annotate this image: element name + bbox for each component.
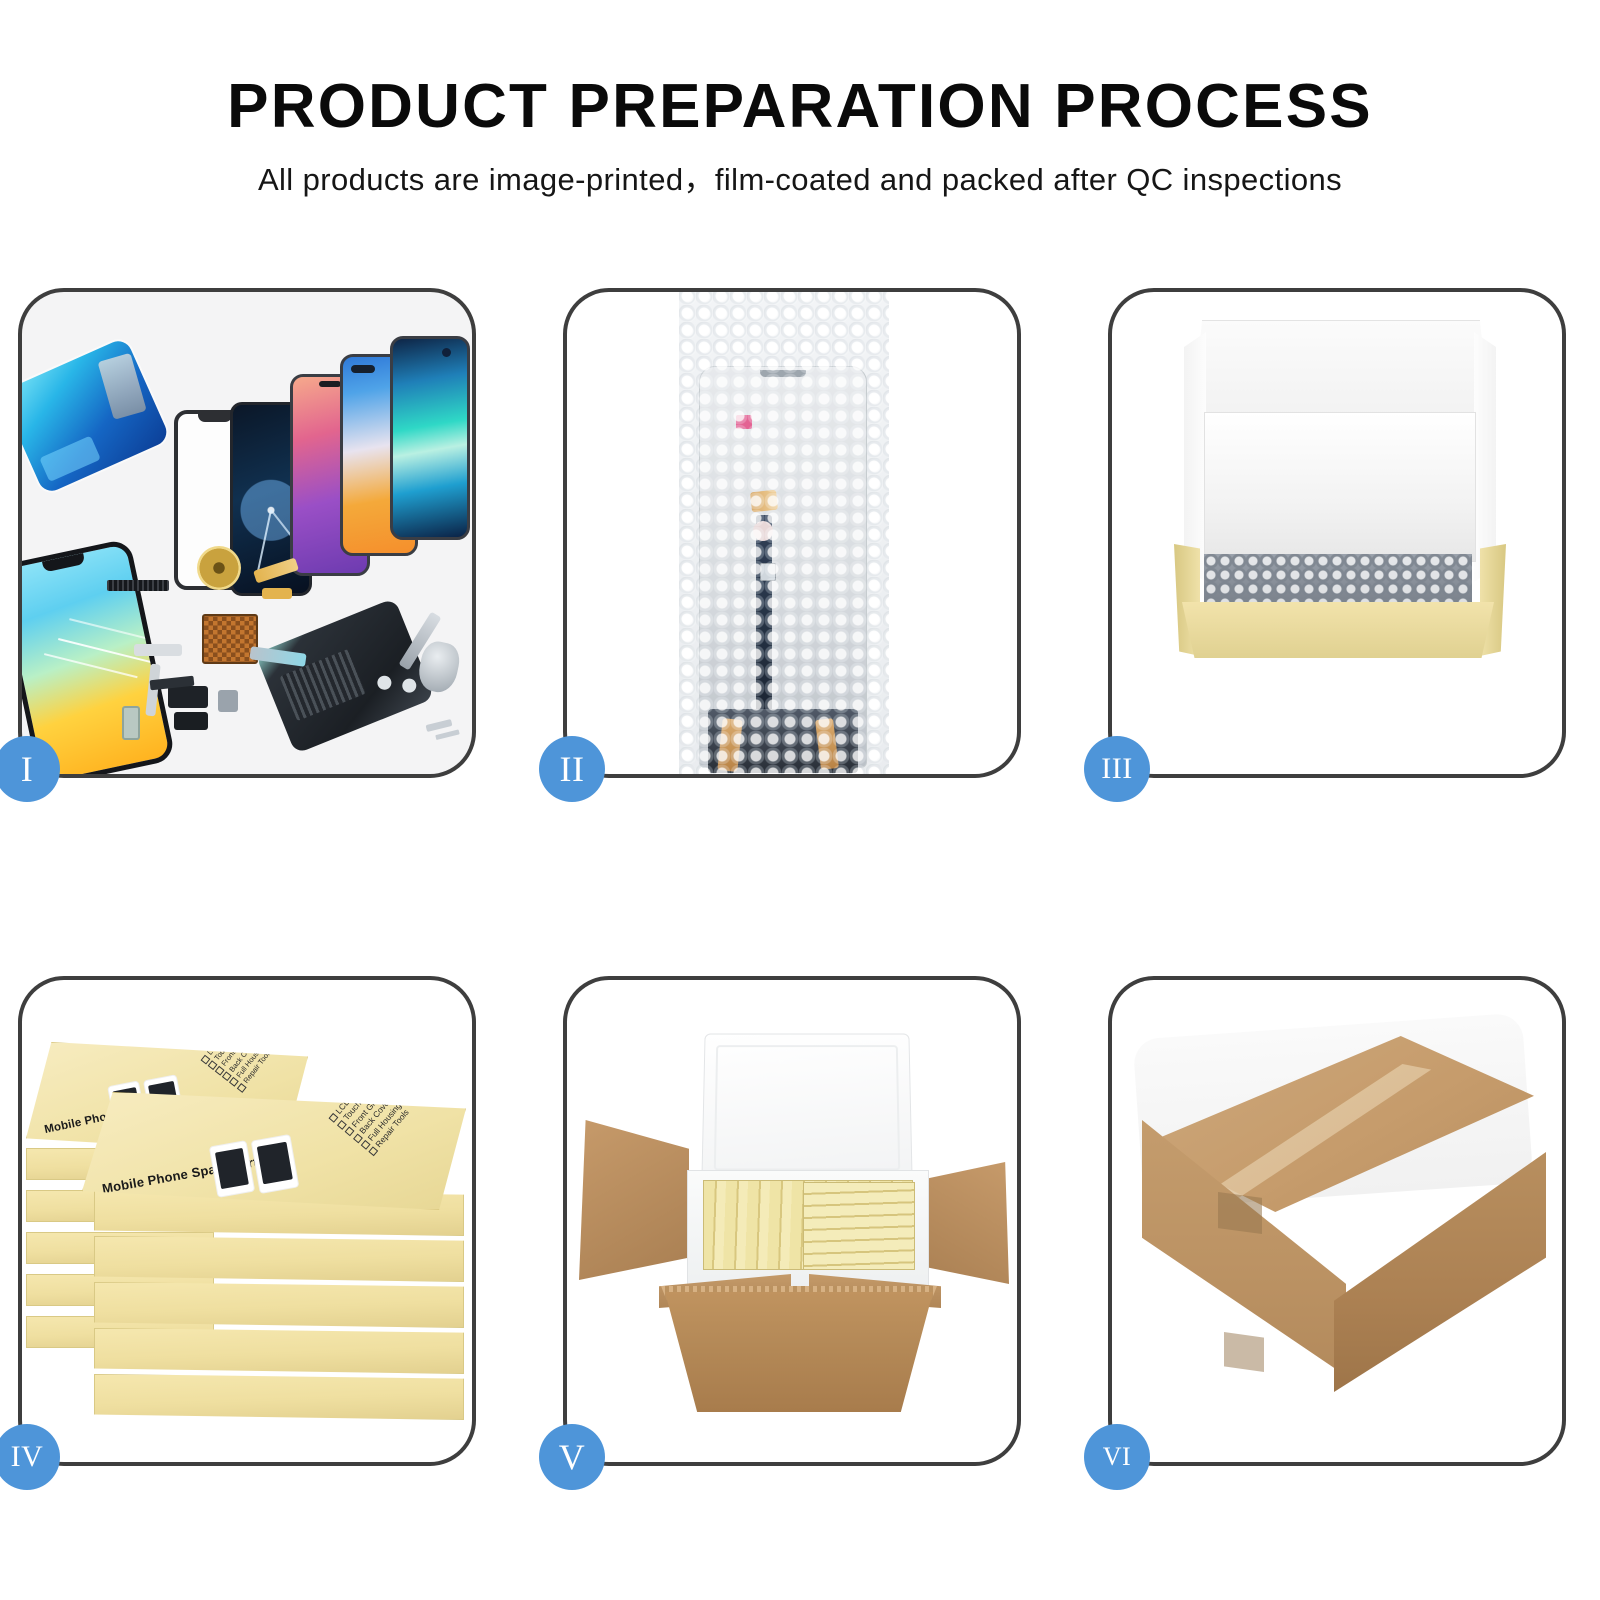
connector-strip	[107, 580, 169, 591]
box-front-2	[94, 1236, 464, 1282]
box-front-checklist: LCD Digitizer Touch Panel Front Glass Ba…	[327, 1072, 413, 1158]
process-panel-6[interactable]: VI	[1108, 976, 1566, 1466]
box-front-phone-1	[209, 1140, 255, 1198]
carton-body	[665, 1292, 933, 1412]
box-side-left	[1184, 332, 1206, 582]
white-box-liner	[1204, 412, 1476, 562]
box-side-right	[1474, 332, 1496, 582]
yellow-cracked-phone	[22, 538, 176, 774]
flex-cable-1	[134, 644, 182, 656]
process-panel-4[interactable]: Mobile Phone Spare Parts LCD Digitizer T…	[18, 976, 476, 1466]
teal-screen-phone	[390, 336, 470, 540]
box-front-5	[94, 1374, 464, 1420]
earpiece-module	[174, 712, 208, 730]
panel-number-badge-2: II	[539, 736, 605, 802]
stacked-retail-boxes-image: Mobile Phone Spare Parts LCD Digitizer T…	[22, 980, 472, 1462]
blue-display-assembly	[22, 337, 171, 495]
panel-number-badge-6: VI	[1084, 1424, 1150, 1490]
wireless-charging-coil	[197, 546, 241, 590]
screws	[426, 719, 453, 732]
box-front-phone-2	[251, 1134, 300, 1194]
flex-cable-4	[262, 588, 292, 599]
process-panel-grid: I II	[18, 288, 1582, 1466]
foam-box-lid	[701, 1034, 912, 1183]
sim-tray	[122, 706, 140, 740]
process-panel-3[interactable]: III	[1108, 288, 1566, 778]
carton-flap-left	[579, 1120, 689, 1280]
box-front-lid: Mobile Phone Spare Parts LCD Digitizer T…	[82, 1092, 466, 1210]
foam-carton-packing-image	[567, 980, 1017, 1462]
page-title: PRODUCT PREPARATION PROCESS	[0, 76, 1600, 138]
bubble-wrap-contents	[1204, 554, 1472, 610]
sealed-shipping-carton-image	[1112, 980, 1562, 1462]
phone-parts-collage-image	[22, 292, 472, 774]
bubble-wrapped-screen-image	[567, 292, 1017, 774]
carton-tape-patch-top	[1218, 1192, 1262, 1234]
panel-number-badge-1: I	[0, 736, 60, 802]
bubble-wrap-sleeve	[679, 292, 889, 774]
panel-number-badge-4: IV	[0, 1424, 60, 1490]
panel-number-badge-5: V	[539, 1424, 605, 1490]
gold-boxes-inside-right	[803, 1182, 915, 1270]
box-front-3	[94, 1282, 464, 1328]
phone-logic-board	[255, 598, 435, 754]
bubble-wrap-gloss	[679, 292, 889, 774]
page-header: PRODUCT PREPARATION PROCESS All products…	[0, 0, 1600, 195]
box-stack: Mobile Phone Spare Parts LCD Digitizer T…	[22, 980, 472, 1462]
box-front-4	[94, 1328, 464, 1374]
process-panel-2[interactable]: II	[563, 288, 1021, 778]
process-panel-1[interactable]: I	[18, 288, 476, 778]
box-rear-checklist: LCD Digitizer Touch Panel Front Glass Ba…	[199, 1017, 275, 1093]
vibration-motor	[218, 690, 238, 712]
panel-number-badge-3: III	[1084, 736, 1150, 802]
open-mailer-box-image	[1112, 292, 1562, 774]
carton-tape-patch-bottom	[1224, 1332, 1264, 1372]
process-panel-5[interactable]: V	[563, 976, 1021, 1466]
page-subtitle: All products are image-printed，film-coat…	[0, 164, 1600, 195]
tray-front-face	[1182, 602, 1494, 658]
speaker-module	[168, 686, 208, 708]
